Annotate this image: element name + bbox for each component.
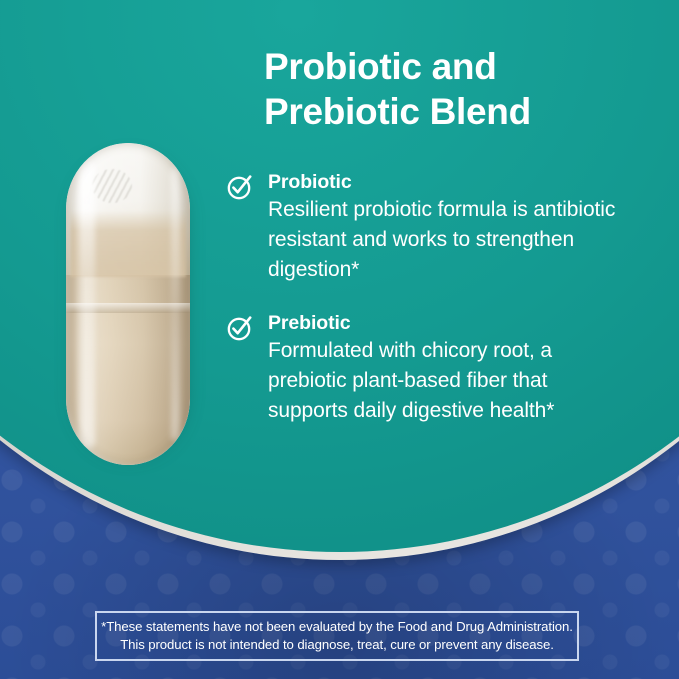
feature-item-prebiotic: Prebiotic Formulated with chicory root, … [226, 311, 626, 426]
capsule-image [66, 143, 192, 469]
disclaimer-box: *These statements have not been evaluate… [95, 611, 579, 661]
check-circle-icon [226, 314, 254, 342]
capsule-edge-shading [66, 143, 190, 465]
disclaimer-line-2: This product is not intended to diagnose… [120, 637, 554, 652]
headline-line-2: Prebiotic Blend [264, 89, 654, 134]
product-feature-panel: Probiotic and Prebiotic Blend Probiotic … [0, 0, 679, 679]
capsule-shell [66, 143, 190, 465]
feature-text-prebiotic: Prebiotic Formulated with chicory root, … [226, 311, 626, 426]
feature-title: Prebiotic [268, 311, 626, 336]
feature-text-probiotic: Probiotic Resilient probiotic formula is… [226, 170, 626, 285]
feature-description: Formulated with chicory root, a prebioti… [268, 336, 626, 426]
feature-description: Resilient probiotic formula is antibioti… [268, 195, 626, 285]
check-circle-icon [226, 173, 254, 201]
disclaimer-text: *These statements have not been evaluate… [101, 618, 573, 654]
disclaimer-line-1: *These statements have not been evaluate… [101, 619, 573, 634]
page-title: Probiotic and Prebiotic Blend [264, 44, 654, 134]
feature-title: Probiotic [268, 170, 626, 195]
headline-line-1: Probiotic and [264, 44, 654, 89]
feature-item-probiotic: Probiotic Resilient probiotic formula is… [226, 170, 626, 285]
feature-list: Probiotic Resilient probiotic formula is… [226, 170, 626, 452]
